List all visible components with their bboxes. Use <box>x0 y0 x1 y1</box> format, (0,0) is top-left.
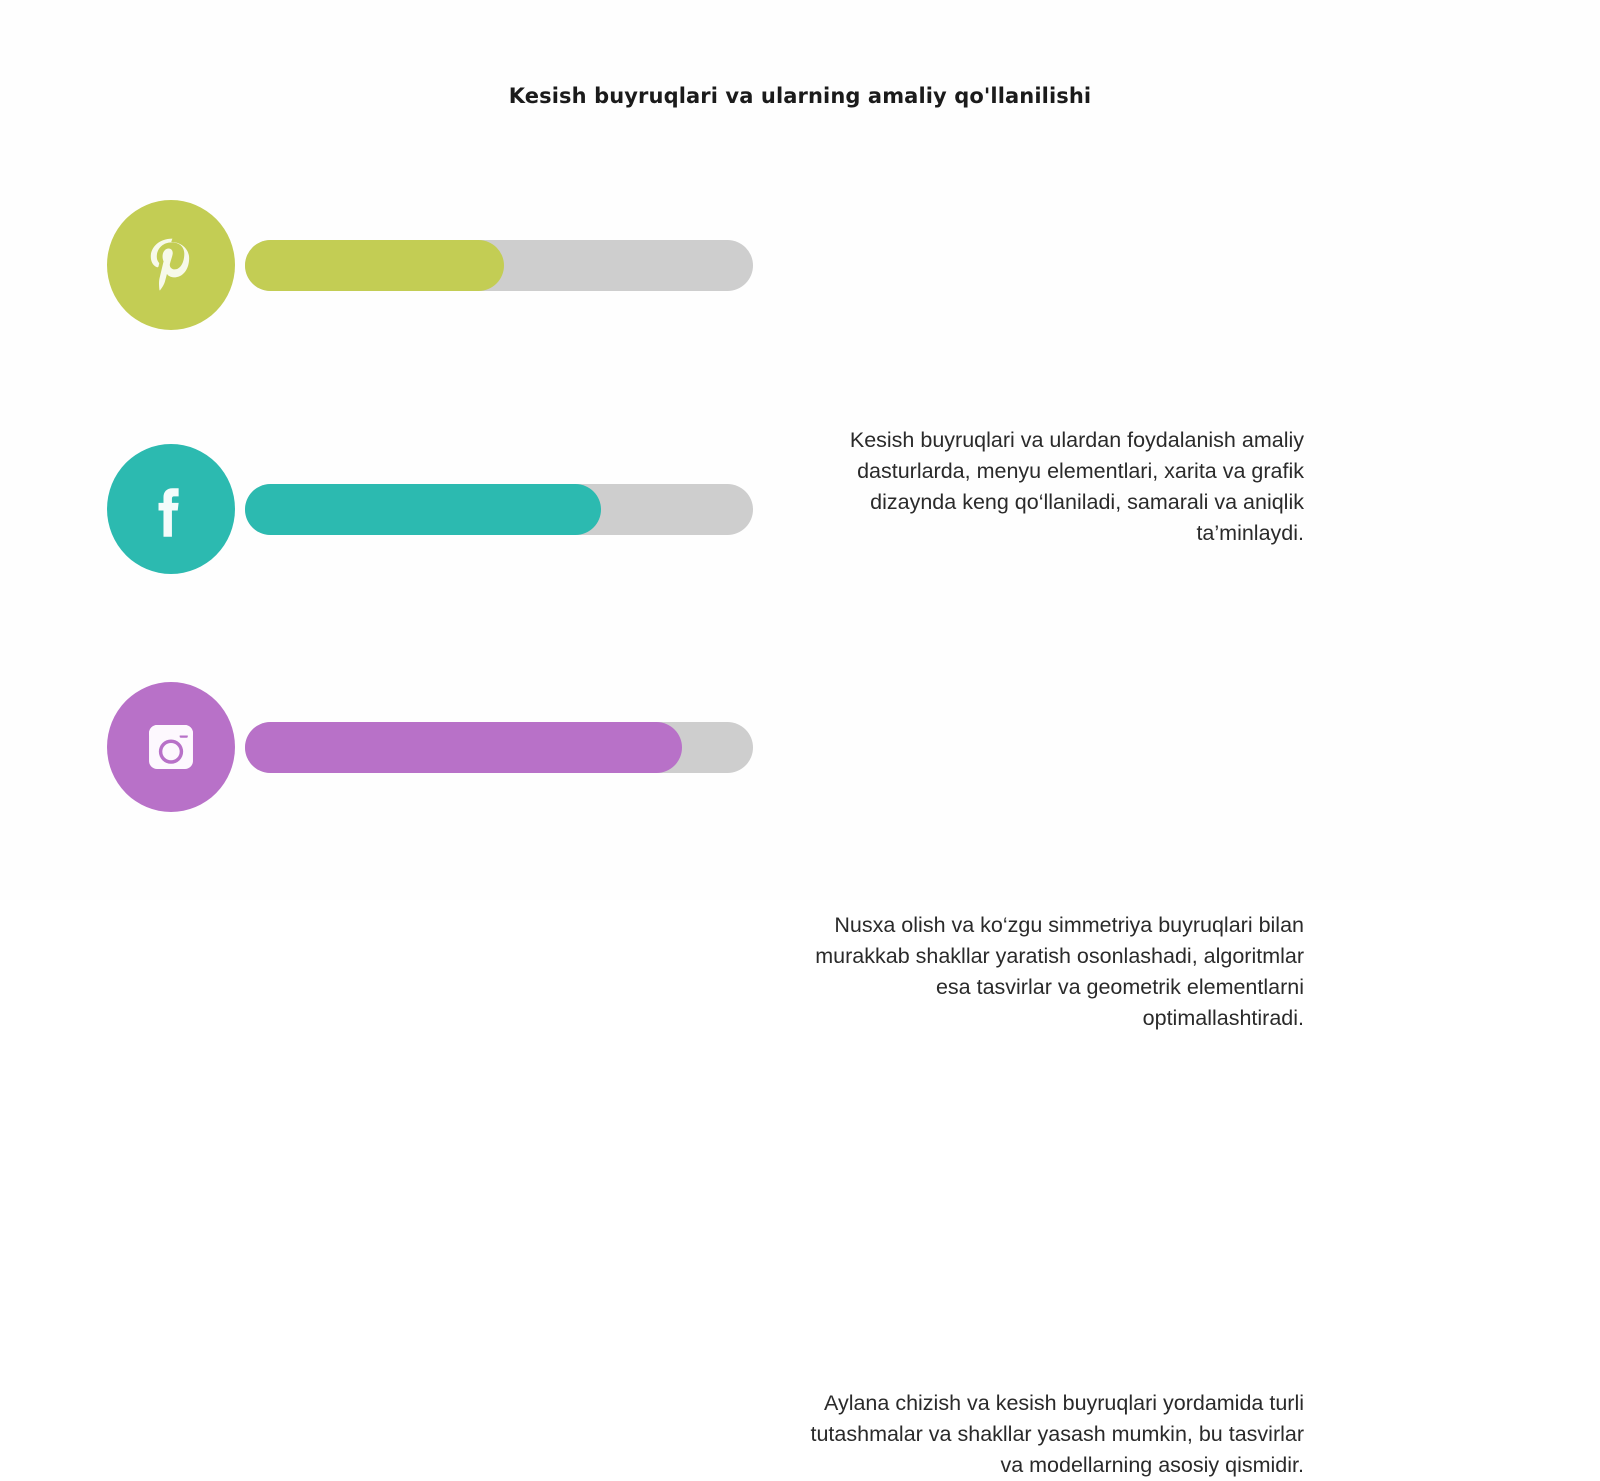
page-title: Kesish buyruqlari va ularning amaliy qo'… <box>0 84 1600 108</box>
progress-bar-track[interactable] <box>245 240 753 291</box>
pinterest-icon[interactable] <box>107 200 235 330</box>
infographic-row: Kesish buyruqlari va ulardan foydalanish… <box>0 200 1600 330</box>
progress-bar-fill <box>245 484 601 535</box>
instagram-icon[interactable] <box>107 682 235 812</box>
facebook-icon[interactable] <box>107 444 235 574</box>
row-description: Nusxa olish va ko‘zgu simmetriya buyruql… <box>799 910 1304 1034</box>
infographic-row: Nusxa olish va ko‘zgu simmetriya buyruql… <box>0 444 1600 574</box>
infographic-row: Aylana chizish va kesish buyruqlari yord… <box>0 682 1600 812</box>
progress-bar-track[interactable] <box>245 722 753 773</box>
progress-bar-fill <box>245 722 682 773</box>
progress-bar-fill <box>245 240 504 291</box>
progress-bar-track[interactable] <box>245 484 753 535</box>
row-description: Aylana chizish va kesish buyruqlari yord… <box>799 1388 1304 1481</box>
infographic-canvas: Kesish buyruqlari va ularning amaliy qo'… <box>0 0 1600 900</box>
